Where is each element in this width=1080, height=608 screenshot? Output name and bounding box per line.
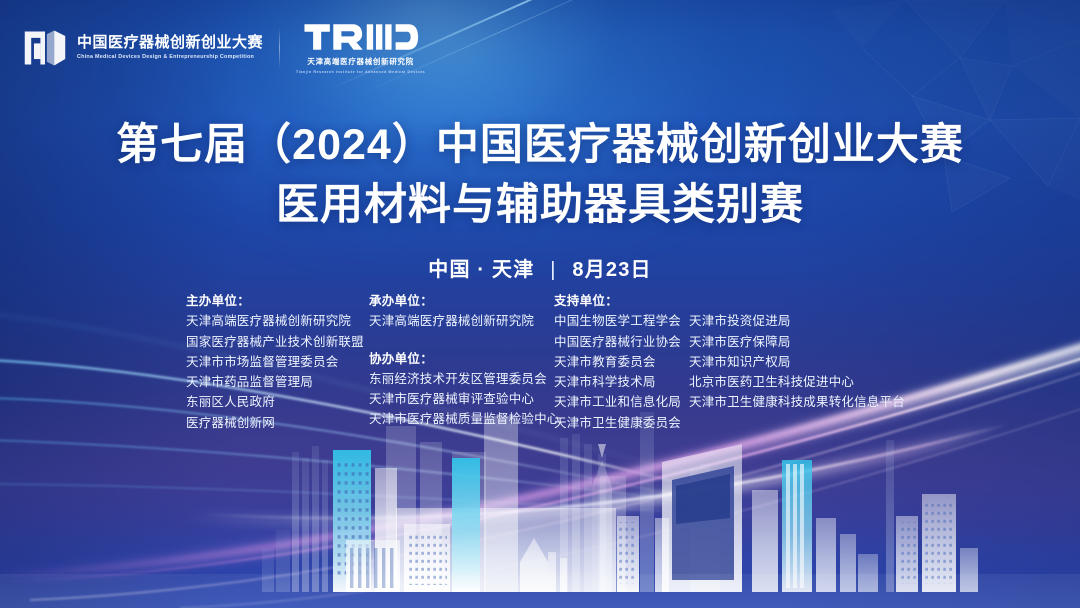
poster-title: 第七届（2024）中国医疗器械创新创业大赛 医用材料与辅助器具类别赛 <box>0 118 1080 234</box>
org-item: 天津市科学技术局 <box>554 372 689 392</box>
org-heading: 承办单位： <box>369 291 554 311</box>
org-item: 天津市市场监督管理委员会 <box>186 352 369 372</box>
org-item: 天津高端医疗器械创新研究院 <box>186 311 369 331</box>
org-item: 天津市教育委员会 <box>554 352 689 372</box>
org-heading: 主办单位： <box>186 291 369 311</box>
org-item: 天津市卫生健康科技成果转化信息平台 <box>689 392 904 412</box>
triid-wordmark-icon <box>302 22 420 52</box>
subtitle-separator: | <box>550 259 556 282</box>
event-poster: 中国医疗器械创新创业大赛 China Medical Devices Desig… <box>0 0 1080 608</box>
org-spacer <box>689 291 904 311</box>
org-item: 东丽经济技术开发区管理委员会 <box>369 369 554 389</box>
open-book-door-logo-icon <box>22 25 68 71</box>
poster-header: 中国医疗器械创新创业大赛 China Medical Devices Desig… <box>0 0 1080 96</box>
institute-en-name: Tianjin Research Institute for Advanced … <box>296 70 425 74</box>
org-heading: 支持单位： <box>554 291 689 311</box>
org-column-support: 支持单位： 中国生物医学工程学会 中国医疗器械行业协会 天津市教育委员会 天津市… <box>554 291 689 433</box>
org-column-support-continued: 天津市投资促进局 天津市医疗保障局 天津市知识产权局 北京市医药卫生科技促进中心… <box>689 291 904 413</box>
org-item: 中国生物医学工程学会 <box>554 311 689 331</box>
event-location: 中国 · 天津 <box>428 259 534 281</box>
title-line-2: 医用材料与辅助器具类别赛 <box>0 178 1080 234</box>
logo-group: 中国医疗器械创新创业大赛 China Medical Devices Desig… <box>0 22 425 74</box>
org-item: 天津市医疗器械审评查验中心 <box>369 389 554 409</box>
org-item: 天津市卫生健康委员会 <box>554 413 689 433</box>
org-item: 天津市药品监督管理局 <box>186 372 369 392</box>
event-date: 8月23日 <box>572 259 651 281</box>
org-column-host: 主办单位： 天津高端医疗器械创新研究院 国家医疗器械产业技术创新联盟 天津市市场… <box>186 291 369 433</box>
org-item: 天津高端医疗器械创新研究院 <box>369 311 554 331</box>
org-item: 天津市医疗器械质量监督检验中心 <box>369 409 554 429</box>
org-item: 国家医疗器械产业技术创新联盟 <box>186 332 369 352</box>
title-line-1: 第七届（2024）中国医疗器械创新创业大赛 <box>0 118 1080 174</box>
org-column-organizer: 承办单位： 天津高端医疗器械创新研究院 协办单位： 东丽经济技术开发区管理委员会… <box>369 291 554 430</box>
org-item: 医疗器械创新网 <box>186 413 369 433</box>
competition-cn-name: 中国医疗器械创新创业大赛 <box>77 35 263 52</box>
org-item: 天津市医疗保障局 <box>689 332 904 352</box>
organizations-block: 主办单位： 天津高端医疗器械创新研究院 国家医疗器械产业技术创新联盟 天津市市场… <box>186 291 904 433</box>
event-subtitle: 中国 · 天津 | 8月23日 <box>0 253 1080 282</box>
logo-divider <box>279 28 280 68</box>
institute-logo: 天津高端医疗器械创新研究院 Tianjin Research Institute… <box>296 22 425 74</box>
org-item: 东丽区人民政府 <box>186 392 369 412</box>
org-heading: 协办单位： <box>369 349 554 369</box>
org-item: 天津市工业和信息化局 <box>554 392 689 412</box>
org-item: 天津市知识产权局 <box>689 352 904 372</box>
competition-en-name: China Medical Devices Design & Entrepren… <box>77 54 263 61</box>
org-item: 中国医疗器械行业协会 <box>554 332 689 352</box>
org-spacer <box>369 332 554 349</box>
institute-cn-name: 天津高端医疗器械创新研究院 <box>307 56 413 67</box>
competition-logo-text: 中国医疗器械创新创业大赛 China Medical Devices Desig… <box>77 35 263 62</box>
org-item: 北京市医药卫生科技促进中心 <box>689 372 904 392</box>
org-item: 天津市投资促进局 <box>689 311 904 331</box>
